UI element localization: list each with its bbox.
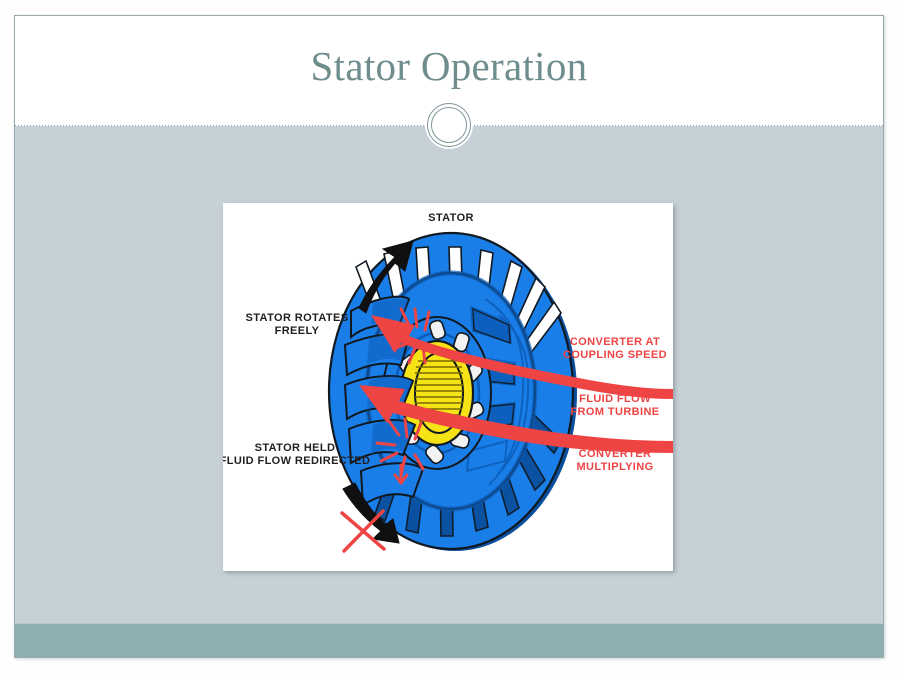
figure-label-stator-rotates-freely-line2: FREELY <box>275 325 320 337</box>
slide-body: STATOR STATOR ROTATES FREELY STATOR HELD… <box>15 126 883 657</box>
ornament-inner-ring <box>431 107 467 143</box>
stator-diagram-image[interactable]: STATOR STATOR ROTATES FREELY STATOR HELD… <box>223 203 673 571</box>
title-ornament-circle-icon <box>425 101 473 149</box>
stator-diagram-svg: STATOR STATOR ROTATES FREELY STATOR HELD… <box>223 203 673 571</box>
figure-label-stator-held-line1: STATOR HELD <box>255 442 336 454</box>
figure-label-converter-coupling-line2: COUPLING SPEED <box>563 349 667 361</box>
slide-footer-accent-bar <box>15 623 883 657</box>
figure-label-fluid-flow-turbine-line1: FLUID FLOW <box>579 393 651 405</box>
presentation-slide: Stator Operation <box>14 15 884 658</box>
figure-label-converter-multiplying-line2: MULTIPLYING <box>576 461 653 473</box>
figure-label-fluid-flow-turbine-line2: FROM TURBINE <box>570 406 659 418</box>
figure-label-stator-rotates-freely-line1: STATOR ROTATES <box>246 312 349 324</box>
figure-label-converter-coupling-line1: CONVERTER AT <box>570 336 660 348</box>
figure-label-converter-multiplying-line1: CONVERTER <box>579 448 652 460</box>
figure-label-stator: STATOR <box>428 212 474 224</box>
figure-label-stator-held-line2: FLUID FLOW REDIRECTED <box>223 455 370 467</box>
page-title: Stator Operation <box>15 44 883 89</box>
